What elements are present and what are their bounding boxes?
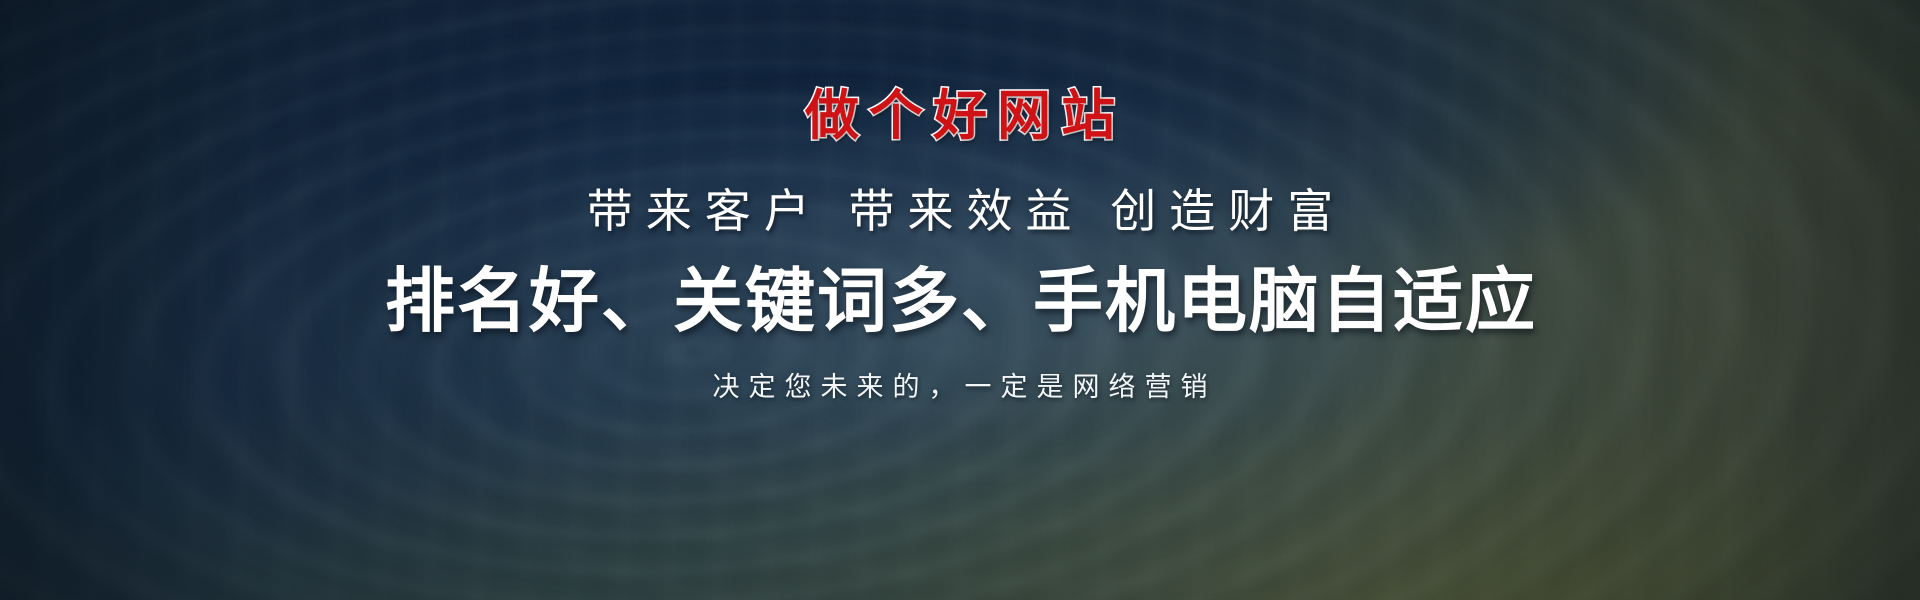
banner-content: 做个好网站 带来客户 带来效益 创造财富 排名好、关键词多、手机电脑自适应 决定… — [0, 0, 1920, 600]
banner-tagline: 决定您未来的，一定是网络营销 — [704, 374, 1217, 401]
banner-headline-primary: 做个好网站 — [795, 88, 1125, 142]
banner-headline-features: 排名好、关键词多、手机电脑自适应 — [383, 266, 1537, 336]
hero-banner: 做个好网站 带来客户 带来效益 创造财富 排名好、关键词多、手机电脑自适应 决定… — [0, 0, 1920, 600]
banner-headline-benefits: 带来客户 带来效益 创造财富 — [574, 188, 1347, 234]
